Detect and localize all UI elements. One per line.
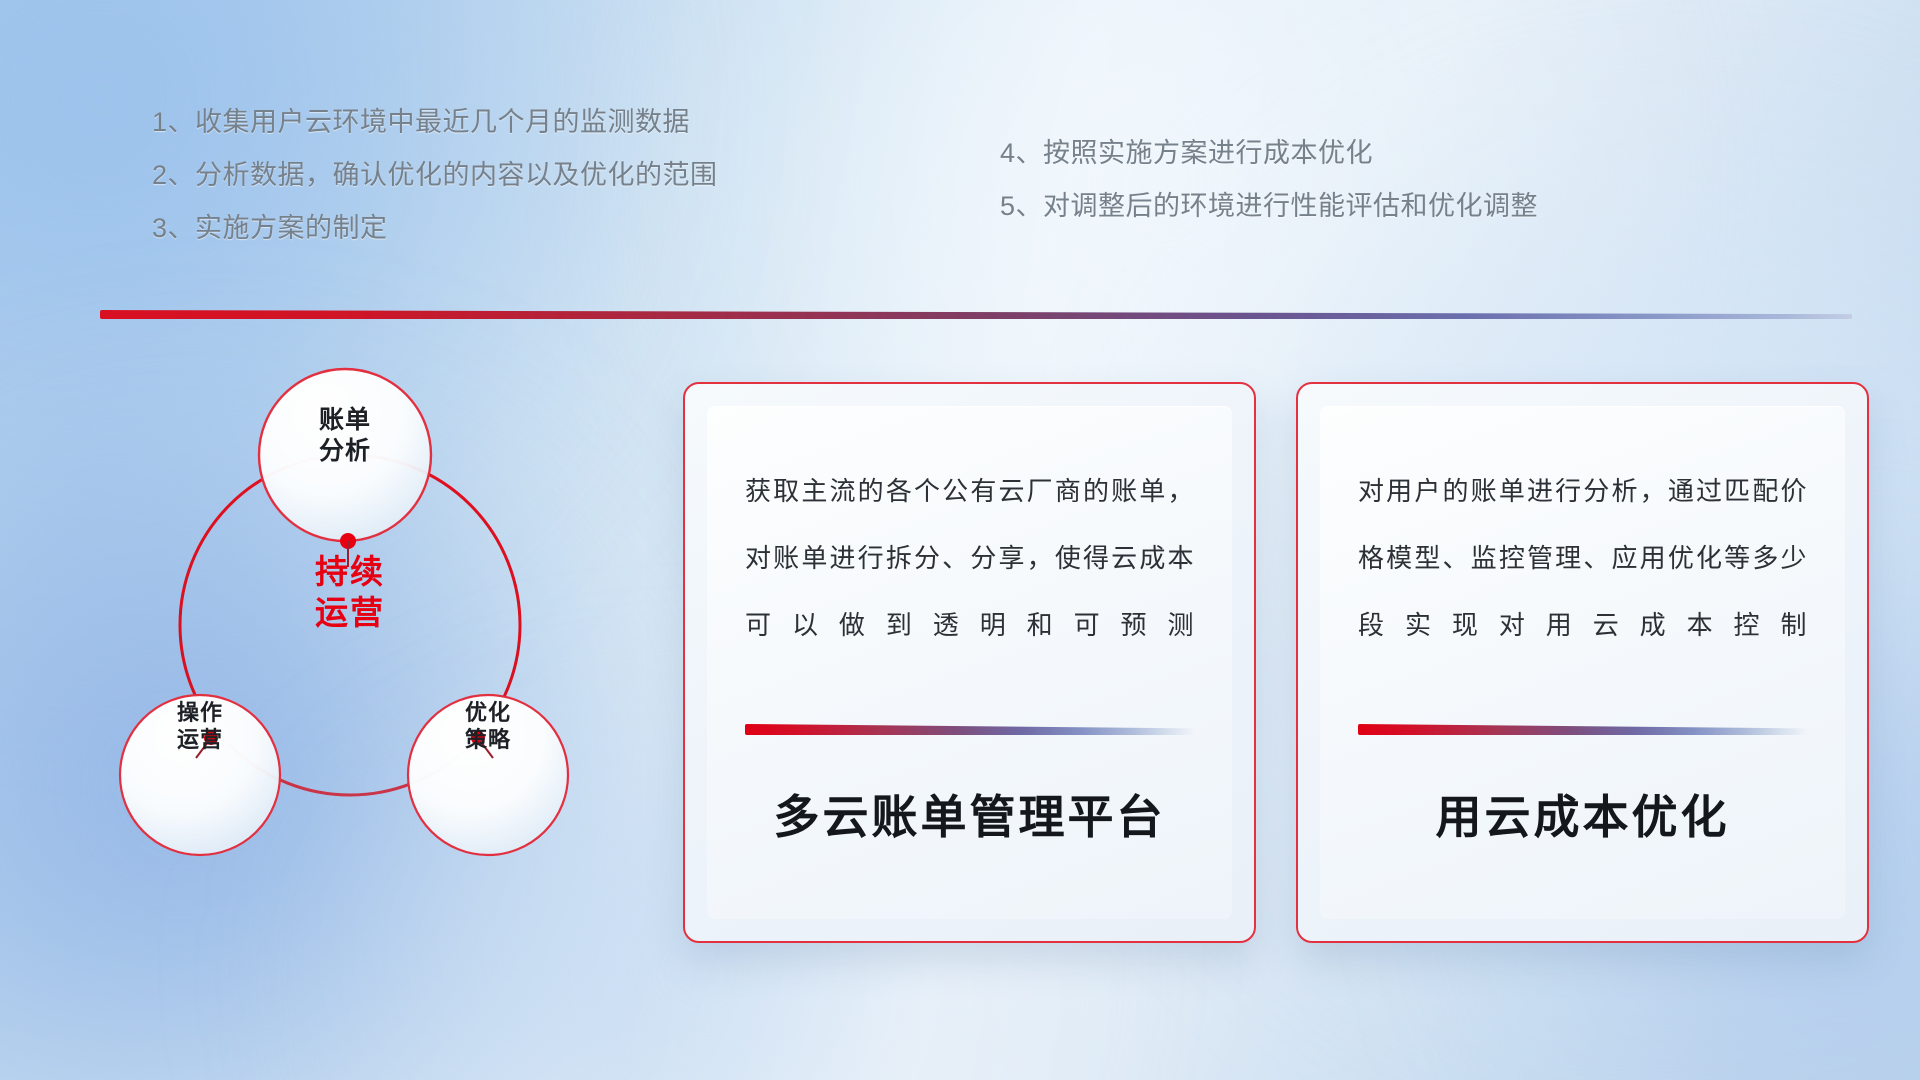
card-inner-panel-2: 对用户的账单进行分析，通过匹配价格模型、监控管理、应用优化等多少段实现对用云成本… bbox=[1320, 406, 1845, 919]
diagram-label-optimization-strategy-line2: 策略 bbox=[413, 727, 563, 754]
card-body-1: 获取主流的各个公有云厂商的账单，对账单进行拆分、分享，使得云成本可以做到透明和可… bbox=[745, 458, 1194, 659]
diagram-label-operations: 操作 运营 bbox=[125, 700, 275, 754]
step-item-3: 3、实施方案的制定 bbox=[152, 202, 718, 255]
diagram-center-label-line2: 运营 bbox=[275, 593, 425, 634]
diagram-label-billing-analysis-line1: 账单 bbox=[265, 405, 425, 436]
diagram-center-label: 持续 运营 bbox=[275, 552, 425, 634]
card-divider-rule-1 bbox=[745, 724, 1194, 735]
step-item-5: 5、对调整后的环境进行性能评估和优化调整 bbox=[1000, 180, 1538, 233]
card-multi-cloud-billing-platform[interactable]: 获取主流的各个公有云厂商的账单，对账单进行拆分、分享，使得云成本可以做到透明和可… bbox=[683, 382, 1256, 943]
continuous-operation-diagram: 账单 分析 操作 运营 优化 策略 持续 运营 bbox=[90, 345, 610, 905]
card-title-1: 多云账单管理平台 bbox=[707, 781, 1232, 847]
diagram-label-optimization-strategy: 优化 策略 bbox=[413, 700, 563, 754]
diagram-label-operations-line1: 操作 bbox=[125, 700, 275, 727]
steps-right-column: 4、按照实施方案进行成本优化 5、对调整后的环境进行性能评估和优化调整 bbox=[1000, 127, 1538, 233]
step-item-1: 1、收集用户云环境中最近几个月的监测数据 bbox=[152, 96, 718, 149]
diagram-label-billing-analysis: 账单 分析 bbox=[265, 405, 425, 466]
diagram-label-billing-analysis-line2: 分析 bbox=[265, 436, 425, 467]
card-cloud-cost-optimization[interactable]: 对用户的账单进行分析，通过匹配价格模型、监控管理、应用优化等多少段实现对用云成本… bbox=[1296, 382, 1869, 943]
card-divider-rule-2 bbox=[1358, 724, 1807, 735]
steps-left-column: 1、收集用户云环境中最近几个月的监测数据 2、分析数据，确认优化的内容以及优化的… bbox=[152, 96, 718, 255]
diagram-center-label-line1: 持续 bbox=[275, 552, 425, 593]
step-item-2: 2、分析数据，确认优化的内容以及优化的范围 bbox=[152, 149, 718, 202]
diagram-label-operations-line2: 运营 bbox=[125, 727, 275, 754]
step-item-4: 4、按照实施方案进行成本优化 bbox=[1000, 127, 1538, 180]
card-inner-panel-1: 获取主流的各个公有云厂商的账单，对账单进行拆分、分享，使得云成本可以做到透明和可… bbox=[707, 406, 1232, 919]
diagram-label-optimization-strategy-line1: 优化 bbox=[413, 700, 563, 727]
card-body-2: 对用户的账单进行分析，通过匹配价格模型、监控管理、应用优化等多少段实现对用云成本… bbox=[1358, 458, 1807, 659]
card-title-2: 用云成本优化 bbox=[1320, 781, 1845, 847]
